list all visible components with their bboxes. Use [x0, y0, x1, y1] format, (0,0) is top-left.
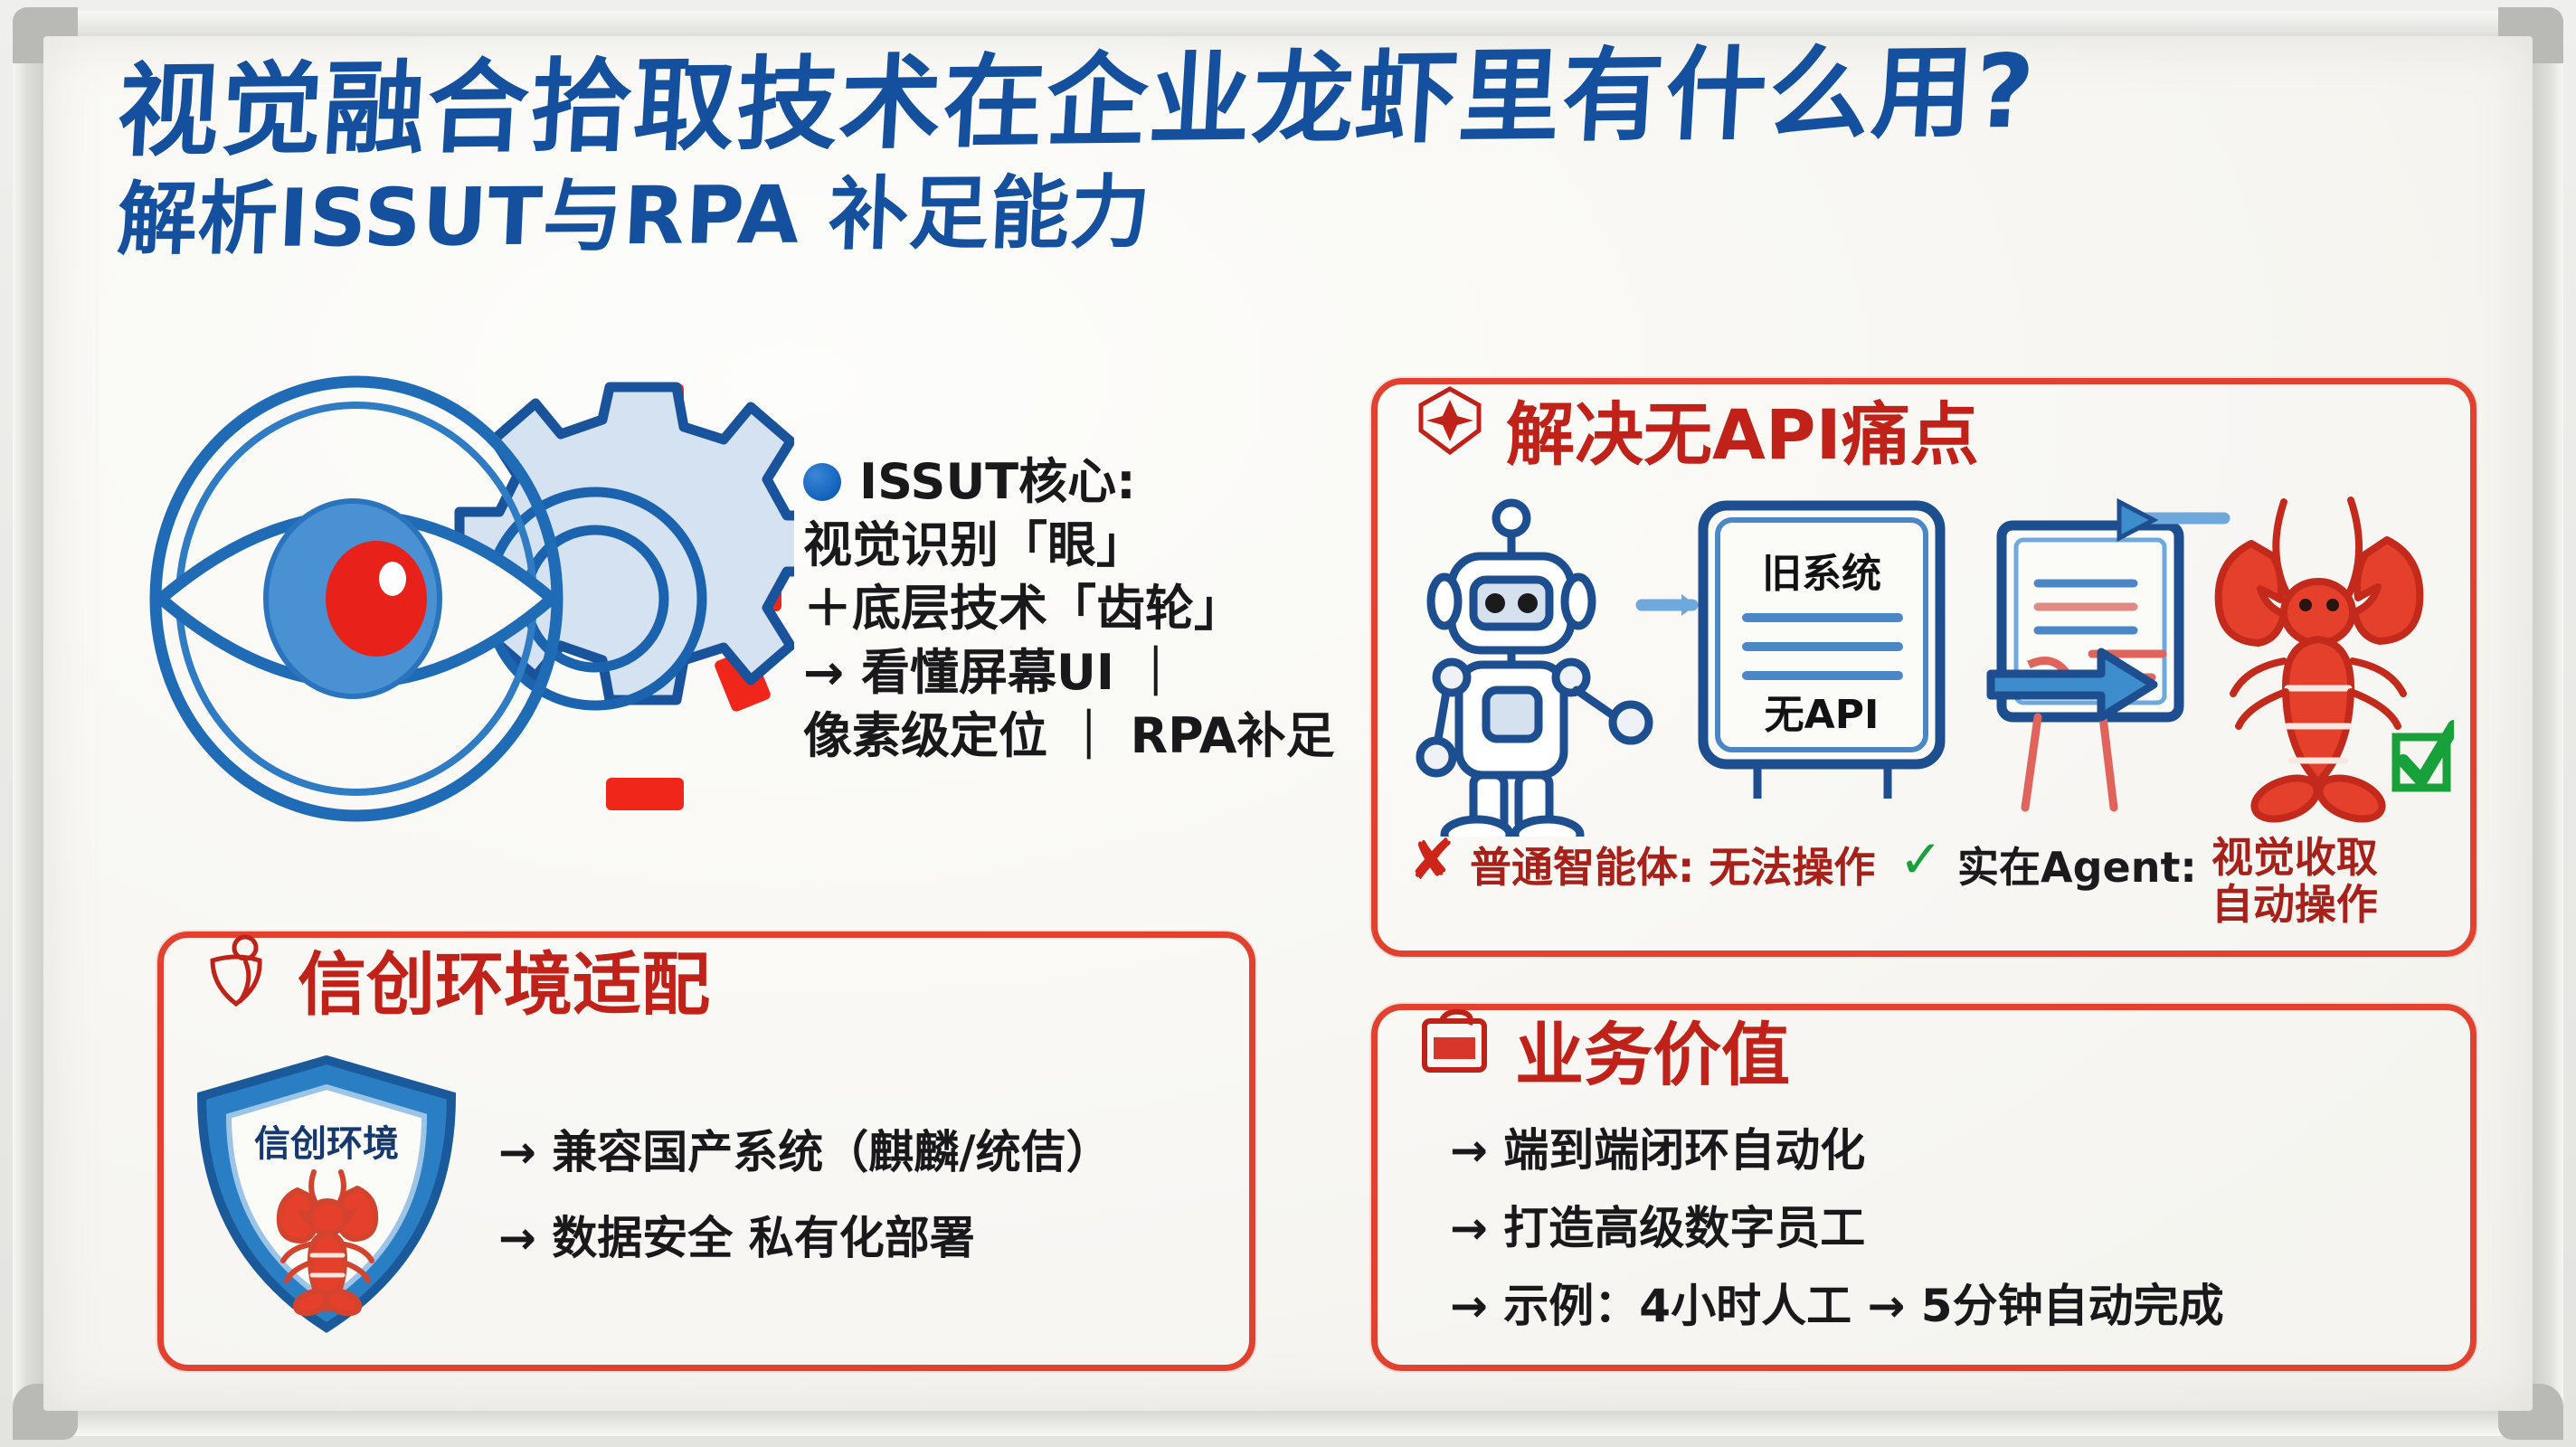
shield-badge-label: 信创环境 [254, 1123, 399, 1165]
card-business-value-title: 业务价值 [1515, 999, 1790, 1099]
check-icon: ✓ [1899, 835, 1943, 884]
screen-icon [2002, 525, 2179, 808]
title-block: 视觉融合拾取技术在企业龙虾里有什么用? 解析ISSUT与RPA 补足能力 [118, 58, 2469, 264]
document-title: 旧系统 [1762, 551, 1881, 597]
card-xinchuang: 信创环境适配 信创环境 [157, 932, 1255, 1371]
shield-person-icon [204, 933, 274, 1024]
xinchuang-bullet-list: → 兼容国产系统（麒麟/统佶） → 数据安全 私有化部署 [498, 1110, 1112, 1281]
document-icon: 旧系统 无API [1703, 506, 1940, 799]
whiteboard-canvas: 视觉融合拾取技术在企业龙虾里有什么用? 解析ISSUT与RPA 补足能力 [43, 36, 2533, 1411]
blue-dot-icon [803, 463, 841, 501]
list-item: → 兼容国产系统（麒麟/统佶） [498, 1110, 1112, 1196]
eye-icon [156, 382, 557, 816]
api-fail-label: 普通智能体: [1470, 835, 1694, 894]
card-xinchuang-title: 信创环境适配 [298, 929, 710, 1028]
card-api-title: 解决无API痛点 [1506, 379, 1979, 478]
list-item: → 示例：4小时人工 → 5分钟自动完成 [1450, 1267, 2224, 1345]
list-item: → 端到端闭环自动化 [1450, 1111, 2224, 1189]
core-line-3: ＋底层技术「齿轮」 [803, 577, 1364, 640]
card-xinchuang-title-row: 信创环境适配 [204, 929, 710, 1028]
frame-rail-left [13, 24, 43, 1423]
api-ok-value-line2: 自动操作 [2211, 882, 2378, 929]
api-fail-value: 无法操作 [1709, 835, 1875, 894]
core-line-1: ISSUT核心: [859, 450, 1136, 514]
api-ok-value-line1: 视觉收取 [2211, 835, 2378, 882]
cross-icon: ✘ [1408, 835, 1455, 885]
briefcase-icon [1417, 1007, 1492, 1092]
api-footnote-row: ✘ 普通智能体: 无法操作 ✓ 实在Agent: 视觉收取 自动操作 [1408, 835, 2467, 928]
card-business-value: 业务价值 → 端到端闭环自动化 → 打造高级数字员工 → 示例：4小时人工 → … [1371, 1004, 2477, 1371]
whiteboard-frame: 视觉融合拾取技术在企业龙虾里有什么用? 解析ISSUT与RPA 补足能力 [0, 0, 2576, 1447]
api-illustration: 旧系统 无API [1405, 493, 2454, 837]
page-subtitle: 解析ISSUT与RPA 补足能力 [116, 160, 2472, 264]
core-line-2: 视觉识别「眼」 [803, 514, 1364, 577]
check-box-icon [2396, 726, 2454, 788]
frame-rail-bottom [24, 1409, 2552, 1436]
frame-rail-top [24, 11, 2552, 38]
business-value-bullet-list: → 端到端闭环自动化 → 打造高级数字员工 → 示例：4小时人工 → 5分钟自动… [1450, 1111, 2224, 1345]
api-ok-label: 实在Agent: [1957, 835, 2197, 894]
api-ok-value: 视觉收取 自动操作 [2211, 835, 2378, 928]
list-item: → 数据安全 私有化部署 [498, 1196, 1112, 1281]
lobster-icon [2219, 500, 2420, 827]
document-subtitle: 无API [1765, 692, 1880, 738]
api-footnote-fail: ✘ 普通智能体: 无法操作 [1408, 835, 1875, 894]
eye-gear-illustration [143, 373, 794, 825]
card-api-pain-point: 解决无API痛点 [1371, 378, 2477, 957]
list-item: → 打造高级数字员工 [1450, 1189, 2224, 1267]
frame-rail-right [2533, 24, 2563, 1423]
card-api-title-row: 解决无API痛点 [1417, 379, 1979, 478]
robot-icon [1420, 503, 1649, 837]
xinchuang-body: 信创环境 [191, 1046, 1231, 1345]
card-business-value-title-row: 业务价值 [1417, 999, 1790, 1099]
core-line-4: → 看懂屏幕UI ｜ [803, 641, 1364, 705]
api-footnote-ok: ✓ 实在Agent: 视觉收取 自动操作 [1899, 835, 2377, 928]
core-text-block: ISSUT核心: 视觉识别「眼」 ＋底层技术「齿轮」 → 看懂屏幕UI ｜ 像素… [803, 450, 1364, 768]
shield-badge-icon: 信创环境 [191, 1049, 462, 1343]
core-line-5: 像素级定位 ｜ RPA补足 [803, 705, 1364, 768]
core-line-1-row: ISSUT核心: [803, 450, 1364, 514]
sparkle-diamond-icon [1417, 385, 1482, 472]
page-title: 视觉融合拾取技术在企业龙虾里有什么用? [114, 36, 2474, 167]
